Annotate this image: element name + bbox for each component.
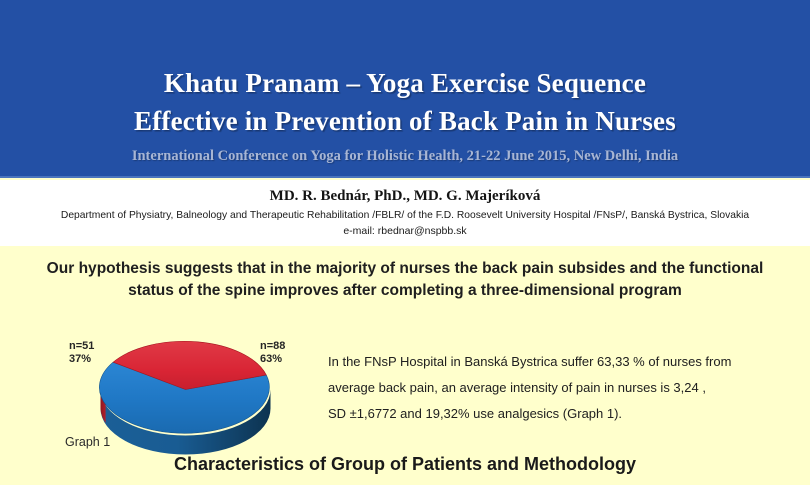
pie-label-red-percent: 37% xyxy=(69,353,91,365)
pie-chart: n=51 37% n=88 63% Graph 1 xyxy=(55,332,325,457)
pie-slices xyxy=(99,341,269,433)
page-title-line-1: Khatu Pranam – Yoga Exercise Sequence xyxy=(0,68,810,99)
pie-label-red-count: n=51 xyxy=(69,340,94,352)
section-heading: Characteristics of Group of Patients and… xyxy=(0,454,810,475)
author-email[interactable]: e-mail: rbednar@nspbb.sk xyxy=(0,225,810,237)
content-area: Our hypothesis suggests that in the majo… xyxy=(0,246,810,485)
findings-paragraph-line-2: average back pain, an average intensity … xyxy=(328,375,788,401)
author-names: MD. R. Bednár, PhD., MD. G. Majeríková xyxy=(0,188,810,205)
hypothesis-statement: Our hypothesis suggests that in the majo… xyxy=(46,258,764,302)
page-title-line-2: Effective in Prevention of Back Pain in … xyxy=(0,106,810,137)
pie-label-red: n=51 37% xyxy=(69,340,94,366)
header-banner: Khatu Pranam – Yoga Exercise Sequence Ef… xyxy=(0,0,810,178)
findings-paragraph-line-1: In the FNsP Hospital in Banská Bystrica … xyxy=(328,349,788,375)
conference-subtitle: International Conference on Yoga for Hol… xyxy=(0,148,810,165)
findings-paragraph: In the FNsP Hospital in Banská Bystrica … xyxy=(328,349,788,427)
pie-label-blue: n=88 63% xyxy=(260,340,285,366)
author-band: MD. R. Bednár, PhD., MD. G. Majeríková D… xyxy=(0,180,810,246)
findings-paragraph-line-3: SD ±1,6772 and 19,32% use analgesics (Gr… xyxy=(328,401,788,427)
slide-canvas: Khatu Pranam – Yoga Exercise Sequence Ef… xyxy=(0,0,810,485)
chart-caption: Graph 1 xyxy=(65,435,110,449)
pie-label-blue-percent: 63% xyxy=(260,353,282,365)
author-affiliation: Department of Physiatry, Balneology and … xyxy=(8,209,802,221)
pie-label-blue-count: n=88 xyxy=(260,340,285,352)
